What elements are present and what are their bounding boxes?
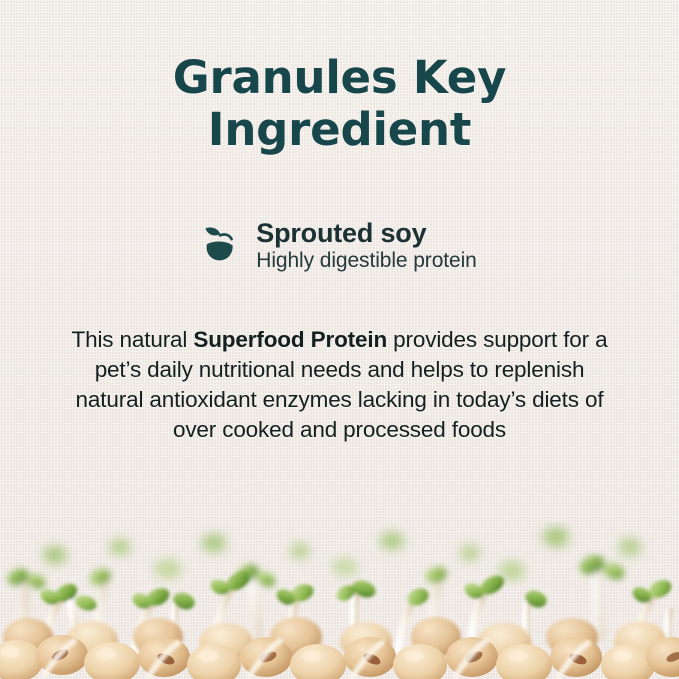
key-ingredient-row: Sprouted soy Highly digestible protein [0,218,679,274]
key-ingredient-description: Highly digestible protein [256,248,476,274]
key-ingredient-text: Sprouted soy Highly digestible protein [256,218,476,274]
body-text-emphasis: Superfood Protein [193,327,387,352]
page-title: Granules Key Ingredient [0,52,679,156]
key-ingredient-name: Sprouted soy [256,218,476,248]
body-paragraph: This natural Superfood Protein provides … [60,325,619,445]
title-line-1: Granules Key [0,52,679,104]
sprout-icon [202,224,242,268]
product-feature-card: Granules Key Ingredient Sprouted soy Hig… [0,0,679,679]
body-text-before: This natural [72,327,194,352]
soybean-sprouts-photo [0,519,679,679]
title-line-2: Ingredient [0,104,679,156]
